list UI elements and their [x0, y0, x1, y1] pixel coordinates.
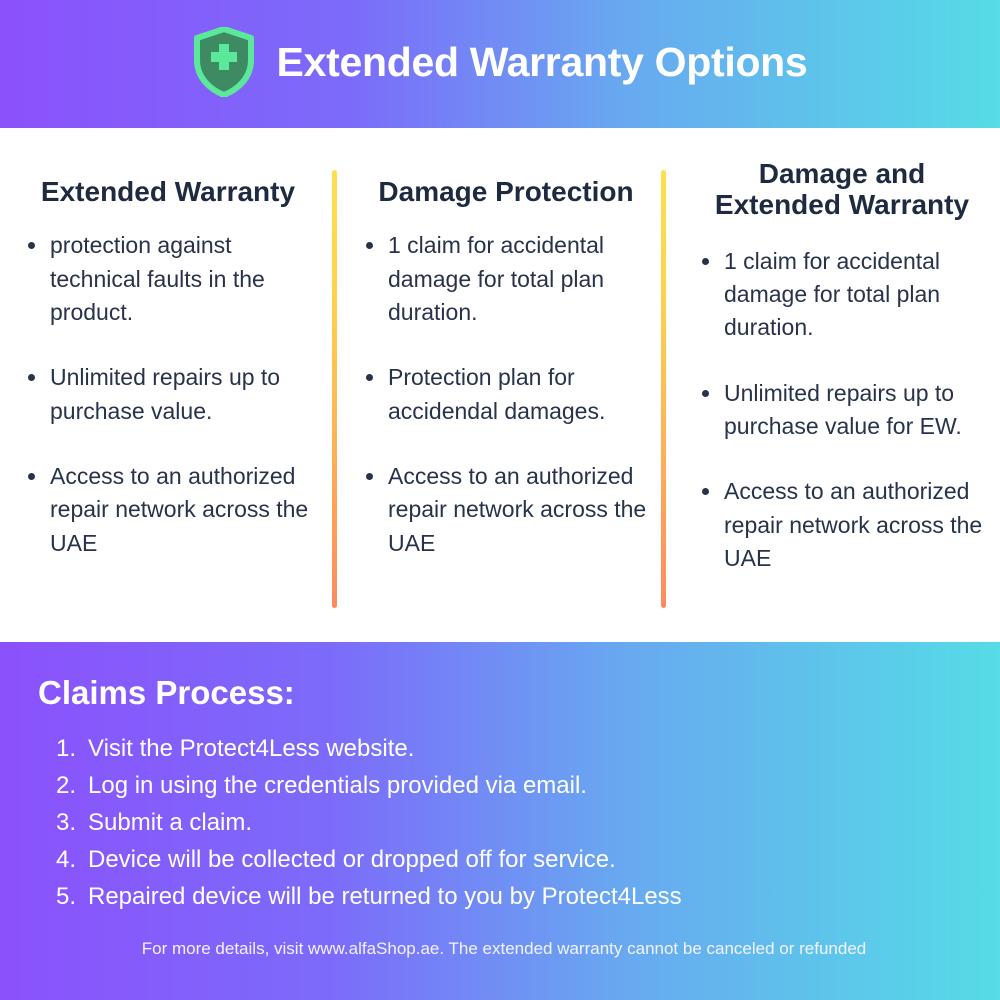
- list-item: Unlimited repairs up to purchase value.: [24, 361, 312, 428]
- plan-benefits-list: 1 claim for accidental damage for total …: [698, 245, 986, 576]
- claims-process-section: Claims Process: Visit the Protect4Less w…: [0, 642, 1000, 1000]
- plan-comparison-columns: Extended Warranty protection against tec…: [0, 128, 1000, 642]
- claims-process-steps: Visit the Protect4Less website. Log in u…: [56, 731, 970, 916]
- plan-benefits-list: 1 claim for accidental damage for total …: [362, 229, 650, 560]
- claims-process-title: Claims Process:: [38, 676, 970, 709]
- plan-column-damage-and-extended-warranty: Damage and Extended Warranty 1 claim for…: [668, 128, 1000, 642]
- plan-title: Damage and Extended Warranty: [698, 158, 986, 221]
- list-item: 1 claim for accidental damage for total …: [362, 229, 650, 329]
- list-item: protection against technical faults in t…: [24, 229, 312, 329]
- list-item: Protection plan for accidendal damages.: [362, 361, 650, 428]
- shield-plus-icon: [193, 27, 255, 97]
- header-banner: Extended Warranty Options: [0, 0, 1000, 128]
- plan-column-damage-protection: Damage Protection 1 claim for accidental…: [332, 128, 668, 642]
- plan-title: Damage Protection: [362, 158, 650, 207]
- list-item: Unlimited repairs up to purchase value f…: [698, 377, 986, 444]
- warranty-poster: Extended Warranty Options Extended Warra…: [0, 0, 1000, 1000]
- plan-title: Extended Warranty: [24, 158, 312, 207]
- list-item: Device will be collected or dropped off …: [56, 842, 970, 879]
- list-item: Repaired device will be returned to you …: [56, 879, 970, 916]
- list-item: Visit the Protect4Less website.: [56, 731, 970, 768]
- plan-column-extended-warranty: Extended Warranty protection against tec…: [0, 128, 332, 642]
- list-item: Submit a claim.: [56, 805, 970, 842]
- list-item: Access to an authorized repair network a…: [698, 475, 986, 575]
- page-title: Extended Warranty Options: [277, 42, 808, 83]
- list-item: Log in using the credentials provided vi…: [56, 768, 970, 805]
- plan-benefits-list: protection against technical faults in t…: [24, 229, 312, 560]
- list-item: Access to an authorized repair network a…: [362, 460, 650, 560]
- list-item: Access to an authorized repair network a…: [24, 460, 312, 560]
- footnote-text: For more details, visit www.alfaShop.ae.…: [38, 938, 970, 960]
- list-item: 1 claim for accidental damage for total …: [698, 245, 986, 345]
